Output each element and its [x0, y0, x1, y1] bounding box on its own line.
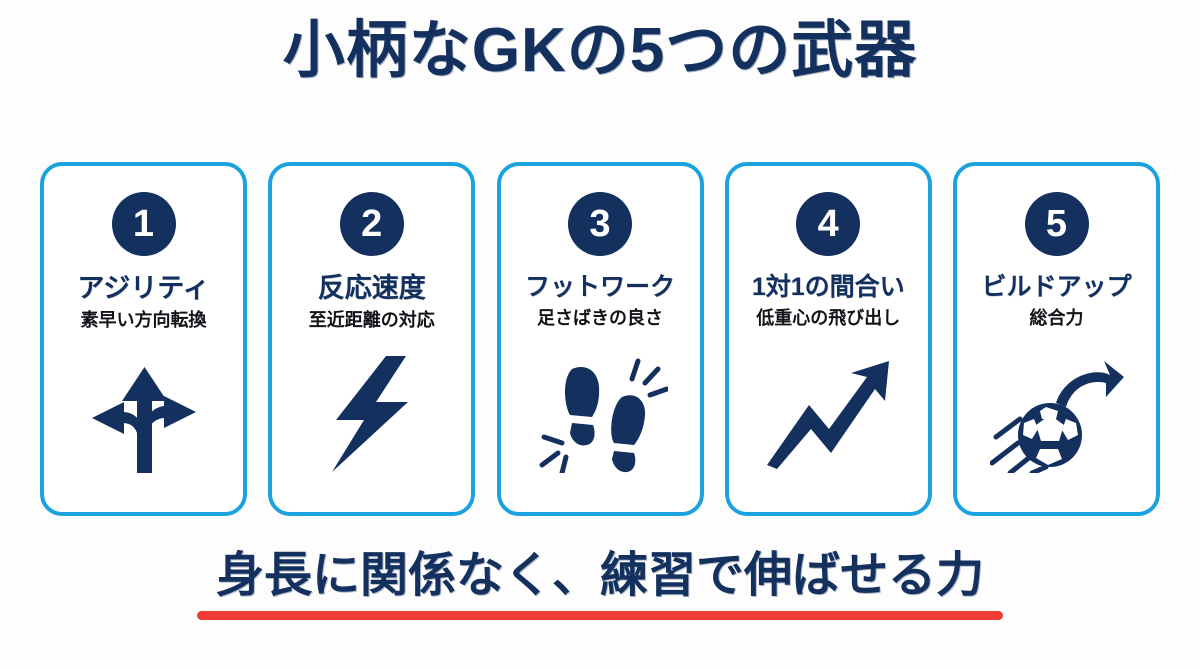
soccer-ball-arrow-icon — [957, 328, 1156, 512]
title-section: 小柄なGKの5つの武器 — [0, 18, 1200, 83]
footer-section: 身長に関係なく、練習で伸ばせる力 — [0, 548, 1200, 620]
lightning-bolt-icon — [272, 330, 471, 512]
card-subtitle: 総合力 — [1030, 309, 1084, 329]
footprints-icon — [501, 328, 700, 512]
card-title: 1対1の間合い — [752, 274, 905, 302]
card-subtitle: 足さばきの良さ — [537, 309, 663, 329]
cards-row: 1 アジリティ 素早い方向転換 2 反応速度 至近距離の対応 — [40, 162, 1160, 516]
footer-underline — [197, 611, 1003, 620]
card-title: フットワーク — [525, 274, 675, 302]
card-number-badge: 2 — [340, 192, 404, 256]
three-way-arrow-icon — [44, 330, 243, 512]
card-title: 反応速度 — [318, 274, 426, 304]
card-number-badge: 4 — [796, 192, 860, 256]
card-agility[interactable]: 1 アジリティ 素早い方向転換 — [40, 162, 247, 516]
card-subtitle: 低重心の飛び出し — [756, 309, 900, 329]
footer-message: 身長に関係なく、練習で伸ばせる力 — [0, 548, 1200, 603]
trending-up-arrow-icon — [729, 328, 928, 512]
card-number-badge: 3 — [568, 192, 632, 256]
card-one-on-one[interactable]: 4 1対1の間合い 低重心の飛び出し — [725, 162, 932, 516]
page-title: 小柄なGKの5つの武器 — [0, 18, 1200, 83]
card-footwork[interactable]: 3 フットワーク 足さばきの良さ — [497, 162, 704, 516]
card-subtitle: 至近距離の対応 — [309, 311, 435, 331]
infographic-root: 小柄なGKの5つの武器 1 アジリティ 素早い方向転換 2 反応速度 — [0, 0, 1200, 669]
card-build-up[interactable]: 5 ビルドアップ 総合力 — [953, 162, 1160, 516]
card-number-badge: 1 — [112, 192, 176, 256]
card-reaction-speed[interactable]: 2 反応速度 至近距離の対応 — [268, 162, 475, 516]
card-subtitle: 素早い方向転換 — [81, 311, 207, 331]
card-title: アジリティ — [77, 274, 209, 304]
card-number-badge: 5 — [1025, 192, 1089, 256]
card-title: ビルドアップ — [981, 274, 1131, 302]
